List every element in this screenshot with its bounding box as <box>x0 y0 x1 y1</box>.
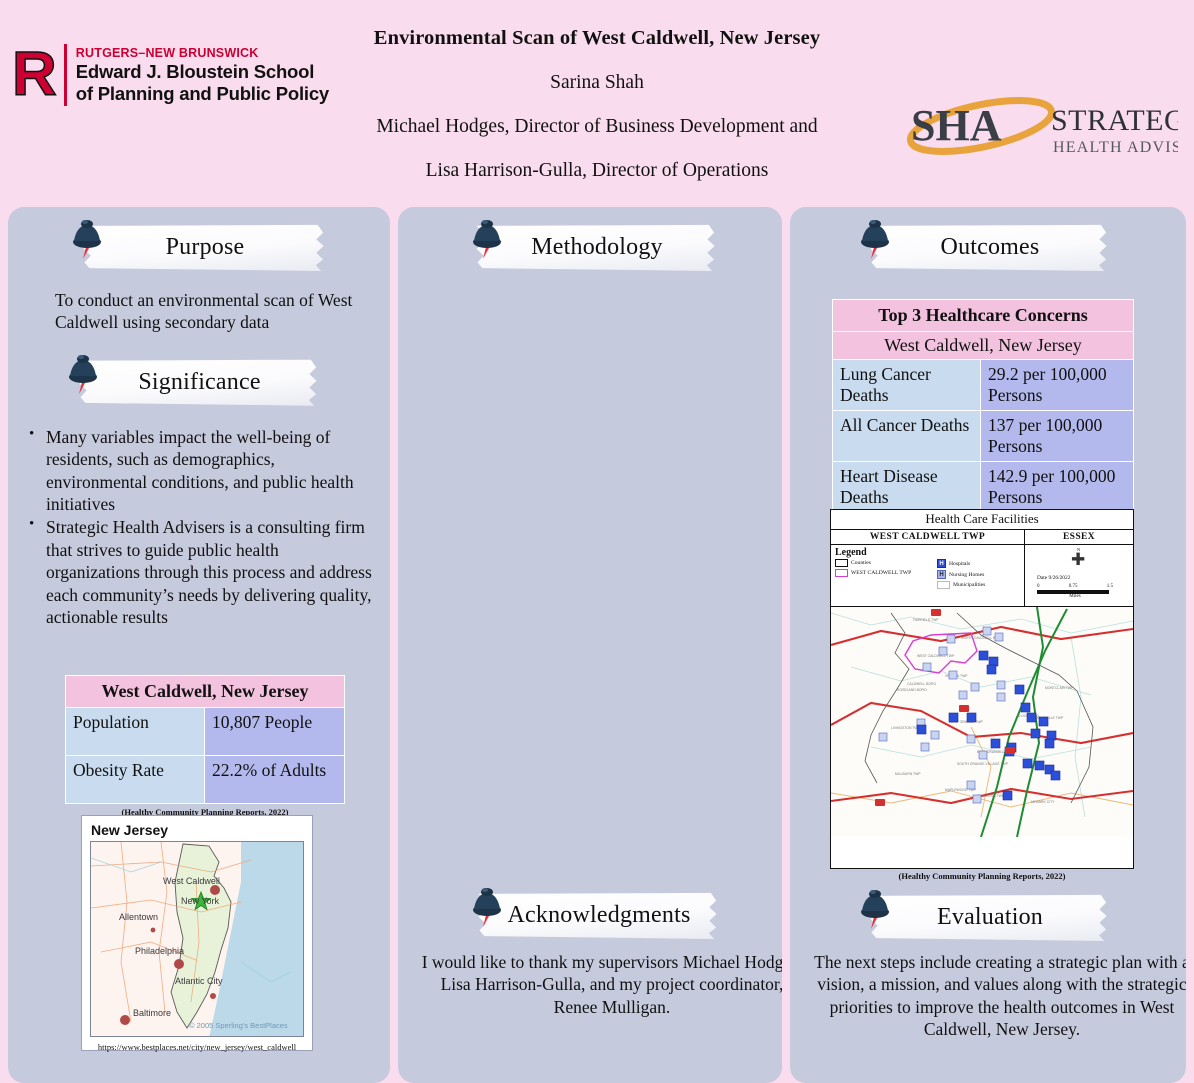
rutgers-logo: R RUTGERS–NEW BRUNSWICK Edward J. Bloust… <box>12 44 329 106</box>
new-jersey-map-card: New Jersey <box>81 815 313 1051</box>
map-scale: 0 0.75 1.5 Miles <box>1037 584 1123 599</box>
table-row: Population 10,807 People <box>66 708 345 756</box>
panel-middle: Methodology Analyzed public databases to… <box>398 207 782 1083</box>
table-title: Top 3 Healthcare Concerns <box>833 300 1134 332</box>
purpose-heading: Purpose <box>166 235 245 259</box>
list-item: Many variables impact the well-being of … <box>22 426 374 516</box>
table-row: Obesity Rate 22.2% of Adults <box>66 756 345 804</box>
hcf-map-image: FAIRFIELD TWP NORTH CALDWELL BORO WEST C… <box>831 607 1133 837</box>
legend-item: Municipalities <box>937 581 985 589</box>
acknowledgments-heading: Acknowledgments <box>508 903 691 927</box>
hcf-subheader: WEST CALDWELL TWP ESSEX <box>831 530 1133 545</box>
table-subtitle: West Caldwell, New Jersey <box>833 332 1134 360</box>
panel-right: Outcomes Top 3 Healthcare Concerns West … <box>790 207 1186 1083</box>
nj-map-image: West Caldwell New York Allentown Philade… <box>90 841 304 1037</box>
hcf-sub-right: ESSEX <box>1025 530 1133 544</box>
outcomes-banner: Outcomes <box>870 223 1110 271</box>
table-header-row: West Caldwell, New Jersey <box>66 676 345 708</box>
table-subheader-row: West Caldwell, New Jersey <box>833 332 1134 360</box>
counties-swatch-icon <box>835 559 848 567</box>
west-caldwell-stats-table: West Caldwell, New Jersey Population 10,… <box>65 675 345 817</box>
legend-item: WEST CALDWELL TWP <box>835 569 931 577</box>
table-header-row: Top 3 Healthcare Concerns <box>833 300 1134 332</box>
hcf-legend-row: Legend Counties WEST CALDWELL TWP <box>831 545 1133 607</box>
acknowledgments-banner: Acknowledgments <box>478 891 720 939</box>
svg-text:New York: New York <box>181 896 220 906</box>
panel-left: Purpose To conduct an environmental scan… <box>8 207 390 1083</box>
legend-item: H Hospitals <box>937 559 985 568</box>
hcf-legend: Legend Counties WEST CALDWELL TWP <box>831 545 1025 606</box>
methodology-heading: Methodology <box>531 235 663 259</box>
scale-label: 0 <box>1037 584 1040 589</box>
row-label: Heart Disease Deaths <box>833 462 981 513</box>
legend-label: Counties <box>851 560 871 566</box>
row-value: 29.2 per 100,000 Persons <box>981 360 1134 411</box>
poster-header: R RUTGERS–NEW BRUNSWICK Edward J. Bloust… <box>0 0 1194 205</box>
rutgers-r-icon: R <box>12 50 55 101</box>
rutgers-campus-label: RUTGERS–NEW BRUNSWICK <box>76 46 329 62</box>
evaluation-heading-wrap: Evaluation <box>790 889 1186 951</box>
list-item: Strategic Health Advisers is a consultin… <box>22 516 374 628</box>
row-value: 22.2% of Adults <box>205 756 345 804</box>
row-label: Obesity Rate <box>66 756 205 804</box>
table-row: All Cancer Deaths 137 per 100,000 Person… <box>833 411 1134 462</box>
table-row: Lung Cancer Deaths 29.2 per 100,000 Pers… <box>833 360 1134 411</box>
row-value: 10,807 People <box>205 708 345 756</box>
purpose-banner: Purpose <box>83 223 327 271</box>
evaluation-banner: Evaluation <box>870 893 1110 941</box>
svg-text:SHA: SHA <box>911 101 1002 150</box>
methodology-heading-wrap: Methodology <box>398 219 782 281</box>
legend-item: H Nursing Homes <box>937 570 985 579</box>
svg-text:NEWARK CITY: NEWARK CITY <box>1031 800 1055 804</box>
legend-label: WEST CALDWELL TWP <box>851 570 911 576</box>
svg-text:Baltimore: Baltimore <box>133 1008 171 1018</box>
pushpin-icon <box>66 349 100 395</box>
advisor-line-2: Lisa Harrison-Gulla, Director of Operati… <box>0 160 1194 182</box>
nj-map-title: New Jersey <box>91 822 312 838</box>
row-value: 142.9 per 100,000 Persons <box>981 462 1134 513</box>
outcomes-heading-wrap: Outcomes <box>790 219 1186 281</box>
scale-unit: Miles <box>1037 594 1113 599</box>
legend-items: Counties WEST CALDWELL TWP H Hospitals <box>835 559 1020 589</box>
legend-item: Counties <box>835 559 931 567</box>
pushpin-icon <box>470 882 504 928</box>
significance-banner: Significance <box>79 358 320 406</box>
logo-divider <box>64 44 67 106</box>
acknowledgments-text: I would like to thank my supervisors Mic… <box>420 951 782 1018</box>
hcf-north-and-scale: N ✚ Date 9/26/2022 0 0.75 1.5 Miles <box>1025 545 1133 606</box>
table-row: Heart Disease Deaths 142.9 per 100,000 P… <box>833 462 1134 513</box>
legend-label: Nursing Homes <box>949 572 984 578</box>
pushpin-icon <box>470 214 504 260</box>
rutgers-school-line1: Edward J. Bloustein School <box>76 61 329 82</box>
hcf-map-title: Health Care Facilities <box>831 510 1133 530</box>
hcf-sub-left: WEST CALDWELL TWP <box>831 530 1025 544</box>
legend-title: Legend <box>835 547 1020 558</box>
row-label: Population <box>66 708 205 756</box>
purpose-heading-wrap: Purpose <box>8 219 390 281</box>
table-title: West Caldwell, New Jersey <box>66 676 345 708</box>
svg-text:MONTCLAIR TWP: MONTCLAIR TWP <box>1045 686 1074 690</box>
pushpin-icon <box>858 884 892 930</box>
poster-columns: Purpose To conduct an environmental scan… <box>0 207 1194 1083</box>
svg-text:Philadelphia: Philadelphia <box>135 946 184 956</box>
svg-text:LIVINGSTON TWP: LIVINGSTON TWP <box>891 726 921 730</box>
legend-col-points: H Hospitals H Nursing Homes Municipaliti… <box>937 559 985 589</box>
svg-text:MILLBURN TWP: MILLBURN TWP <box>895 772 921 776</box>
svg-text:SOUTH ORANGE VILLAGE TWP: SOUTH ORANGE VILLAGE TWP <box>957 762 1009 766</box>
west-caldwell-swatch-icon <box>835 569 848 577</box>
municipalities-swatch-icon <box>937 581 950 589</box>
pushpin-icon <box>70 214 104 260</box>
svg-text:Atlantic City: Atlantic City <box>175 976 223 986</box>
row-value: 137 per 100,000 Persons <box>981 411 1134 462</box>
svg-text:CALDWELL BORO: CALDWELL BORO <box>907 682 936 686</box>
svg-text:© 2005 Sperling's BestPlaces: © 2005 Sperling's BestPlaces <box>189 1021 288 1030</box>
pushpin-icon <box>858 214 892 260</box>
methodology-banner: Methodology <box>476 223 718 271</box>
significance-bullet-list: Many variables impact the well-being of … <box>22 426 374 629</box>
purpose-text: To conduct an environmental scan of West… <box>55 289 372 334</box>
scale-label: 0.75 <box>1069 584 1078 589</box>
healthcare-concerns-table: Top 3 Healthcare Concerns West Caldwell,… <box>832 299 1134 513</box>
legend-col-areas: Counties WEST CALDWELL TWP <box>835 559 931 589</box>
row-label: All Cancer Deaths <box>833 411 981 462</box>
significance-heading: Significance <box>138 370 260 394</box>
row-label: Lung Cancer Deaths <box>833 360 981 411</box>
rutgers-school-line2: of Planning and Public Policy <box>76 83 329 104</box>
svg-text:HEALTH ADVISERS, LLC: HEALTH ADVISERS, LLC <box>1053 139 1178 156</box>
scale-label: 1.5 <box>1107 584 1113 589</box>
svg-text:Allentown: Allentown <box>119 912 158 922</box>
evaluation-text: The next steps include creating a strate… <box>804 951 1186 1041</box>
evaluation-heading: Evaluation <box>937 905 1043 929</box>
svg-text:WEST CALDWELL TWP: WEST CALDWELL TWP <box>917 654 955 658</box>
nursing-home-icon: H <box>937 570 946 579</box>
svg-text:West Caldwell: West Caldwell <box>163 876 220 886</box>
svg-text:ROSELAND BORO: ROSELAND BORO <box>897 688 927 692</box>
legend-label: Hospitals <box>949 561 970 567</box>
svg-text:FAIRFIELD TWP: FAIRFIELD TWP <box>913 618 939 622</box>
svg-text:STRATEGIC: STRATEGIC <box>1051 104 1178 137</box>
rutgers-wordmark: RUTGERS–NEW BRUNSWICK Edward J. Bloustei… <box>76 46 329 105</box>
outcomes-heading: Outcomes <box>941 235 1040 259</box>
legend-label: Municipalities <box>953 582 985 588</box>
health-care-facilities-map: Health Care Facilities WEST CALDWELL TWP… <box>830 509 1134 869</box>
map-date: Date 9/26/2022 <box>1037 575 1070 581</box>
hospital-icon: H <box>937 559 946 568</box>
sha-logo: SHA STRATEGIC HEALTH ADVISERS, LLC <box>903 96 1178 162</box>
north-arrow-icon: ✚ <box>1071 551 1085 568</box>
significance-heading-wrap: Significance <box>8 354 390 416</box>
acknowledgments-heading-wrap: Acknowledgments <box>398 887 782 949</box>
nj-map-source-url: https://www.bestplaces.net/city/new_jers… <box>82 1042 312 1052</box>
hcf-map-caption: (Healthy Community Planning Reports, 202… <box>830 871 1134 881</box>
